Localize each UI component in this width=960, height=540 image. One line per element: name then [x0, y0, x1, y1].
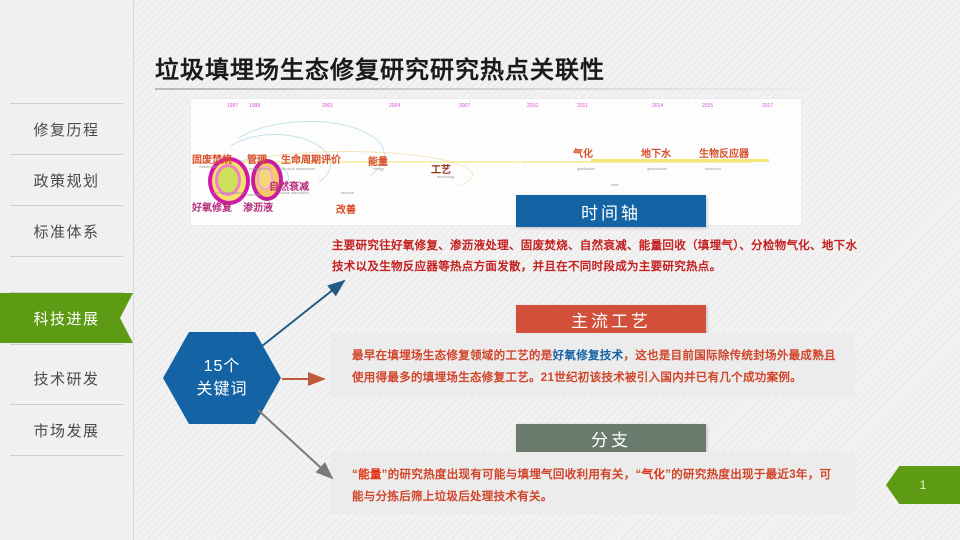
sidebar-divider	[10, 256, 123, 257]
chart-keyword-sublabel: removal	[341, 191, 354, 195]
text-run: 最早在填埋场生态修复领域的工艺的是	[352, 350, 553, 362]
chart-keyword-label: 生物反应器	[699, 145, 749, 160]
text-run: 能量	[358, 469, 382, 481]
chart-keyword-label: 管理	[247, 151, 267, 166]
timeline-chart: 1997 1998 2001 2004 2007 2010 2011 2014 …	[190, 98, 802, 226]
sidebar-divider	[10, 344, 123, 345]
chart-keyword-label: 好氧修复	[192, 199, 232, 214]
chart-keyword-sublabel: leachate	[247, 193, 261, 197]
chart-keyword-sublabel: msw	[611, 183, 618, 187]
caption-label: 时间轴	[581, 199, 641, 224]
chart-xtick: 2014	[652, 103, 663, 110]
hexagon-line-1: 15个	[204, 355, 241, 378]
chart-keyword-sublabel: groundwater	[647, 167, 667, 171]
title-underline	[155, 88, 810, 90]
chart-keyword-sublabel: gasification	[577, 167, 595, 171]
chart-keyword-sublabel: life cycle assessment	[281, 167, 315, 171]
keywords-hexagon[interactable]: 15个 关键词	[163, 332, 281, 424]
sidebar-item-label: 市场发展	[33, 420, 99, 441]
chart-keyword-label: 地下水	[641, 145, 671, 160]
chart-keyword-label: 气化	[573, 145, 593, 160]
sidebar-item-label: 政策规划	[33, 170, 99, 191]
chart-keyword-sublabel: energy	[373, 167, 384, 171]
chart-keyword-sublabel: bioreactor	[705, 167, 721, 171]
chart-keyword-label: 能量	[368, 153, 388, 168]
sidebar-item-0[interactable]: 修复历程	[0, 104, 133, 154]
chart-keyword-label: 固废焚烧	[192, 151, 232, 166]
section-caption-branch: 分支	[516, 424, 706, 452]
sidebar-divider	[10, 292, 123, 293]
chart-xtick: 1997	[227, 103, 238, 110]
sidebar-item-label: 科技进展	[33, 308, 99, 329]
sidebar-item-label: 技术研发	[33, 368, 99, 389]
chart-xtick: 2017	[762, 103, 773, 110]
chart-keyword-sublabel: aerobic remediation	[213, 191, 245, 195]
slide-canvas: 修复历程 政策规划 标准体系 科技进展 技术研发 市场发展 垃圾填埋场生态修复研…	[0, 0, 960, 540]
chart-keyword-sublabel: management	[249, 167, 270, 171]
arrow-to-branch	[258, 410, 332, 478]
chart-keyword-label: 改善	[336, 201, 356, 216]
section-caption-timeline: 时间轴	[516, 195, 706, 227]
text-run: 好氧修复技术	[553, 350, 624, 362]
sidebar-item-1[interactable]: 政策规划	[0, 155, 133, 205]
chart-xtick: 2001	[322, 103, 333, 110]
hexagon-line-2: 关键词	[196, 378, 247, 401]
chart-xtick: 2011	[577, 103, 588, 110]
text-run: 气化	[642, 469, 666, 481]
section-caption-process: 主流工艺	[516, 305, 706, 333]
chart-keyword-sublabel: incineration	[199, 165, 217, 169]
sidebar-item-label: 修复历程	[33, 119, 99, 140]
chart-keyword-label: 生命周期评价	[281, 151, 341, 166]
chevron-left-icon	[120, 293, 133, 343]
sidebar-item-label: 标准体系	[33, 221, 99, 242]
chart-keyword-sublabel: technology	[437, 175, 454, 179]
sidebar-item-4[interactable]: 技术研发	[0, 353, 133, 403]
chart-xtick: 2015	[702, 103, 713, 110]
page-number-badge: 1	[886, 466, 960, 504]
caption-label: 主流工艺	[571, 307, 651, 332]
sidebar-divider	[10, 455, 123, 456]
text-run: 主要研究往好氧修复、渗沥液处理、固废焚烧、自然衰减、能量回收（填埋气）、分检物气…	[332, 240, 857, 273]
chart-keyword-label: 渗沥液	[243, 199, 273, 214]
process-description-box: 最早在填埋场生态修复领域的工艺的是好氧修复技术，这也是目前国际除传统封场外最成熟…	[330, 333, 855, 397]
sidebar: 修复历程 政策规划 标准体系 科技进展 技术研发 市场发展	[0, 0, 134, 540]
page-number: 1	[920, 478, 927, 492]
chart-xtick: 2007	[459, 103, 470, 110]
chart-keyword-label: 工艺	[431, 161, 451, 176]
page-title: 垃圾填埋场生态修复研究研究热点关联性	[155, 50, 605, 85]
branch-description-box: “能量”的研究热度出现有可能与填埋气回收利用有关，“气化”的研究热度出现于最近3…	[330, 452, 855, 514]
chart-keyword-sublabel: natural attenuation	[279, 191, 309, 195]
branch-description: “能量”的研究热度出现有可能与填埋气回收利用有关，“气化”的研究热度出现于最近3…	[352, 464, 839, 508]
chart-xtick: 2010	[527, 103, 538, 110]
sidebar-item-2[interactable]: 标准体系	[0, 206, 133, 256]
chart-xtick: 2004	[389, 103, 400, 110]
sidebar-item-5[interactable]: 市场发展	[0, 405, 133, 455]
sidebar-item-3-active[interactable]: 科技进展	[0, 293, 133, 343]
caption-label: 分支	[591, 426, 631, 451]
text-run: ”的研究热度出现有可能与填埋气回收利用有关，“	[382, 469, 642, 481]
timeline-description: 主要研究往好氧修复、渗沥液处理、固废焚烧、自然衰减、能量回收（填埋气）、分检物气…	[332, 236, 860, 278]
chart-xtick: 1998	[249, 103, 260, 110]
process-description: 最早在填埋场生态修复领域的工艺的是好氧修复技术，这也是目前国际除传统封场外最成熟…	[352, 345, 839, 389]
